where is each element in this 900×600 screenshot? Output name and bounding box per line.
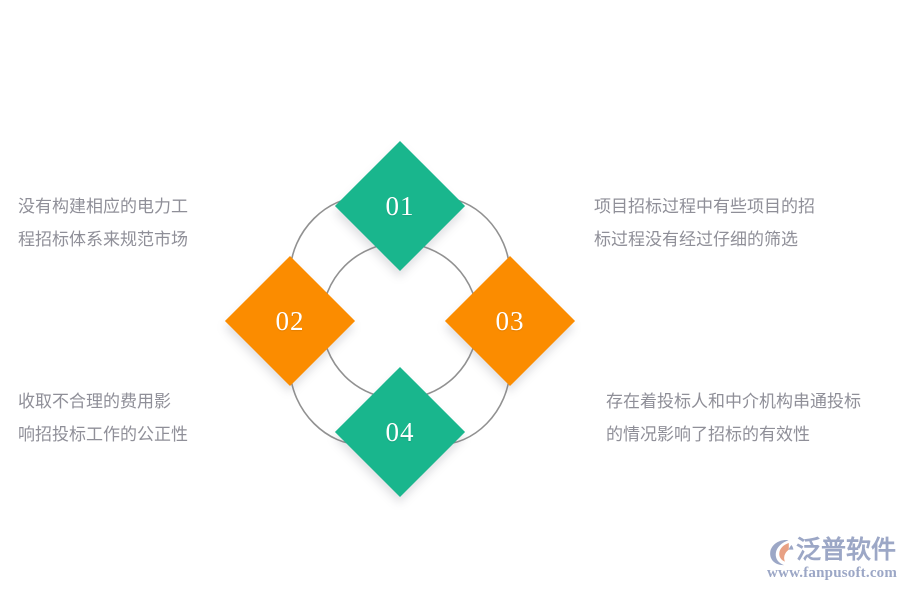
fanpu-c-mark-icon	[766, 536, 798, 568]
canvas: 01 02 03 04 没有构建相应的电力工 程招标体系来规范市场 项目招标过程…	[0, 0, 900, 600]
logo-url: www.fanpusoft.com	[767, 565, 897, 582]
brand-watermark: 泛普软件 www.fanpusoft.com	[766, 534, 892, 586]
caption-bottom-right-line2: 的情况影响了招标的有效性	[606, 418, 891, 451]
caption-top-left-line1: 没有构建相应的电力工	[18, 190, 218, 223]
diamond-node-02-label: 02	[276, 308, 305, 335]
caption-top-left: 没有构建相应的电力工 程招标体系来规范市场	[18, 190, 218, 256]
diamond-cycle-diagram: 01 02 03 04	[190, 120, 610, 510]
diamond-node-03-label: 03	[496, 308, 525, 335]
diamond-node-04-label: 04	[386, 419, 415, 446]
diamond-node-01-label: 01	[386, 193, 415, 220]
caption-top-right: 项目招标过程中有些项目的招 标过程没有经过仔细的筛选	[594, 190, 884, 256]
caption-top-left-line2: 程招标体系来规范市场	[18, 223, 218, 256]
caption-bottom-right-line1: 存在着投标人和中介机构串通投标	[606, 385, 891, 418]
caption-bottom-left: 收取不合理的费用影 响招投标工作的公正性	[18, 385, 218, 451]
caption-bottom-left-line2: 响招投标工作的公正性	[18, 418, 218, 451]
caption-bottom-left-line1: 收取不合理的费用影	[18, 385, 218, 418]
caption-bottom-right: 存在着投标人和中介机构串通投标 的情况影响了招标的有效性	[606, 385, 891, 451]
caption-top-right-line2: 标过程没有经过仔细的筛选	[594, 223, 884, 256]
caption-top-right-line1: 项目招标过程中有些项目的招	[594, 190, 884, 223]
logo-wordmark: 泛普软件	[796, 534, 896, 566]
